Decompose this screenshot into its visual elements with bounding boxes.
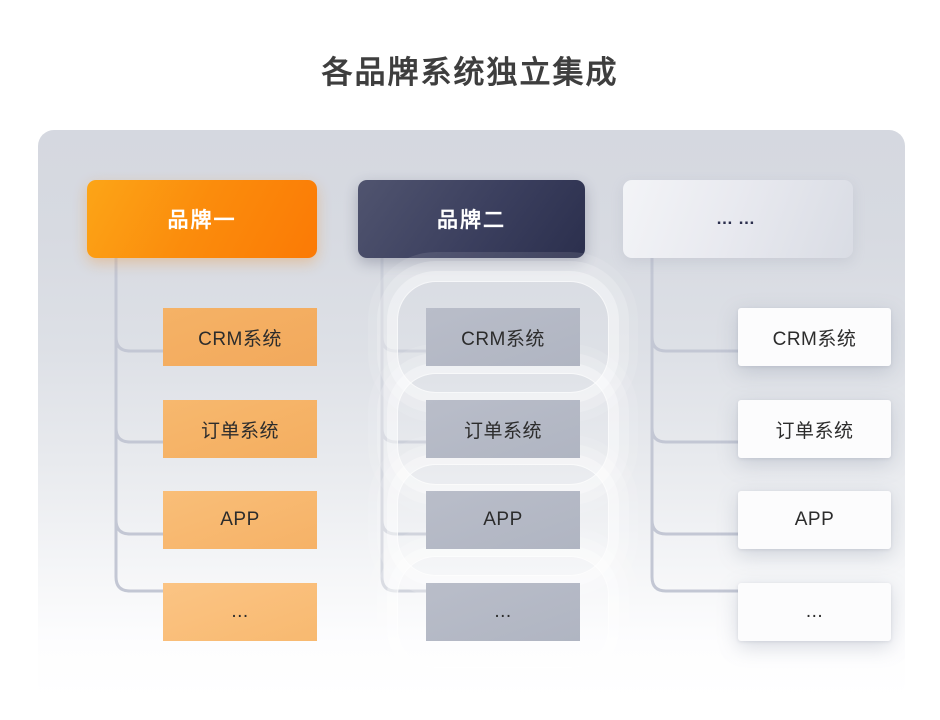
system-card-more-brand-more[interactable]: ...: [738, 583, 891, 641]
system-card-label: APP: [795, 509, 835, 531]
brand-header-two[interactable]: 品牌二: [358, 180, 585, 258]
brand-header-one-label: 品牌一: [168, 204, 237, 234]
page-title: 各品牌系统独立集成: [0, 54, 940, 91]
system-card-crm-brand-one[interactable]: CRM系统: [163, 308, 317, 366]
brand-header-one[interactable]: 品牌一: [87, 180, 317, 258]
brand-column-one: 品牌一 CRM系统 订单系统 APP ...: [87, 130, 367, 700]
system-card-label: APP: [483, 509, 523, 531]
brand-column-more: …… CRM系统 订单系统 APP ...: [623, 130, 903, 700]
system-card-app-brand-more[interactable]: APP: [738, 491, 891, 549]
system-card-label: CRM系统: [198, 324, 282, 351]
system-card-label: CRM系统: [461, 324, 545, 351]
brand-header-more-label: ……: [716, 209, 760, 229]
system-card-label: ...: [231, 601, 248, 623]
brand-column-two: 品牌二 CRM系统 订单系统 APP ...: [358, 130, 638, 700]
system-card-label: 订单系统: [775, 416, 853, 443]
system-card-label: ...: [806, 601, 823, 623]
system-card-label: 订单系统: [201, 416, 279, 443]
system-card-label: APP: [220, 509, 260, 531]
system-card-order-brand-two[interactable]: 订单系统: [426, 400, 580, 458]
diagram-panel: 品牌一 CRM系统 订单系统 APP ... 品牌二 CRM系: [38, 130, 905, 700]
system-card-more-brand-two[interactable]: ...: [426, 583, 580, 641]
brand-header-two-label: 品牌二: [437, 204, 506, 234]
brand-header-more[interactable]: ……: [623, 180, 853, 258]
system-card-crm-brand-two[interactable]: CRM系统: [426, 308, 580, 366]
system-card-order-brand-more[interactable]: 订单系统: [738, 400, 891, 458]
system-card-label: CRM系统: [773, 324, 857, 351]
system-card-more-brand-one[interactable]: ...: [163, 583, 317, 641]
system-card-crm-brand-more[interactable]: CRM系统: [738, 308, 891, 366]
system-card-order-brand-one[interactable]: 订单系统: [163, 400, 317, 458]
system-card-label: ...: [494, 601, 511, 623]
system-card-app-brand-two[interactable]: APP: [426, 491, 580, 549]
system-card-label: 订单系统: [464, 416, 542, 443]
system-card-app-brand-one[interactable]: APP: [163, 491, 317, 549]
